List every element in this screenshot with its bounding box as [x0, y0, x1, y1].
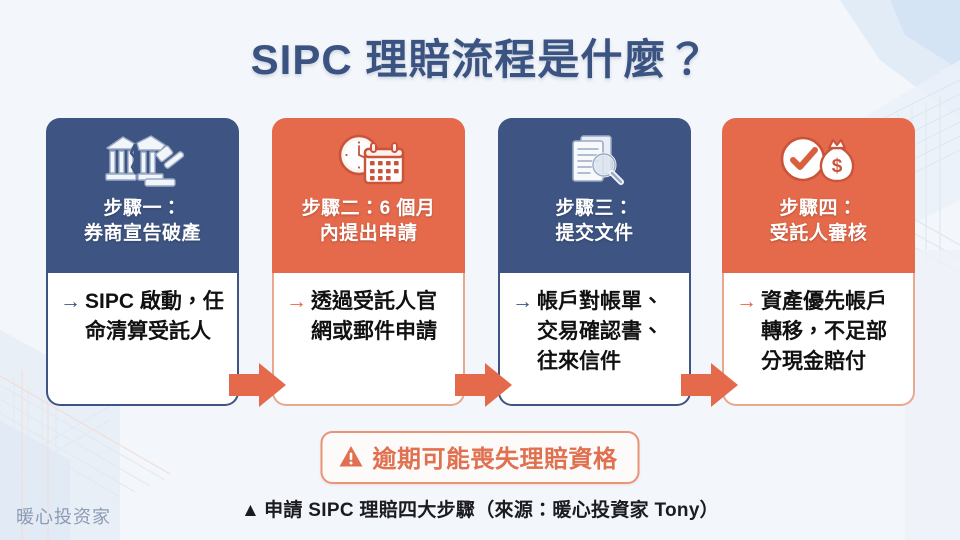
step-card-3-title-line2: 提交文件	[555, 221, 633, 246]
steps-container: 步驟一： 券商宣告破產 → SIPC 啟動，任命清算受託人	[0, 118, 960, 408]
step-card-2-title-line2: 內提出申請	[302, 221, 436, 246]
arrow-step2-to-step3	[455, 361, 513, 409]
step-card-4-header: $ 步驟四： 受託人審核	[722, 118, 915, 273]
caption-text: 申請 SIPC 理賠四大步驟（來源：暖心投資家 Tony）	[264, 500, 719, 521]
step-card-2-title: 步驟二：6 個月 內提出申請	[302, 196, 436, 247]
step-card-3[interactable]: 步驟三： 提交文件 → 帳戶對帳單、交易確認書、往來信件	[498, 118, 691, 406]
step-card-1-body: → SIPC 啟動，任命清算受託人	[46, 273, 239, 406]
step-card-1-title-line2: 券商宣告破產	[84, 221, 201, 246]
step-card-4-description: 資產優先帳戶轉移，不足部分現金賠付	[761, 287, 903, 376]
step-card-2-body: → 透過受託人官網或郵件申請	[272, 273, 465, 406]
step-card-4[interactable]: $ 步驟四： 受託人審核 → 資產優先帳戶轉移，不足部分現金賠付	[722, 118, 915, 406]
caption: ▲申請 SIPC 理賠四大步驟（來源：暖心投資家 Tony）	[0, 495, 960, 522]
clock-calendar-icon	[327, 130, 411, 192]
step-card-1[interactable]: 步驟一： 券商宣告破產 → SIPC 啟動，任命清算受託人	[46, 118, 239, 406]
step-card-4-body: → 資產優先帳戶轉移，不足部分現金賠付	[722, 273, 915, 406]
svg-text:$: $	[831, 156, 842, 177]
document-magnifier-icon	[553, 130, 637, 192]
step-card-2-description: 透過受託人官網或郵件申請	[311, 287, 453, 347]
watermark: 暖心投资家	[16, 503, 111, 529]
arrow-step1-to-step2	[229, 361, 287, 409]
warning-text: 逾期可能喪失理賠資格	[373, 439, 618, 474]
step-card-4-title-line2: 受託人審核	[770, 221, 868, 246]
step-card-1-title-line1: 步驟一：	[84, 196, 201, 221]
broken-courthouse-gavel-icon	[101, 130, 185, 192]
step-card-2[interactable]: 步驟二：6 個月 內提出申請 → 透過受託人官網或郵件申請	[272, 118, 465, 406]
step-card-4-bullet-arrow: →	[736, 287, 757, 317]
step-card-3-title-line1: 步驟三：	[555, 196, 633, 221]
step-card-3-header: 步驟三： 提交文件	[498, 118, 691, 273]
step-card-4-title: 步驟四： 受託人審核	[770, 196, 868, 247]
warning-banner: 逾期可能喪失理賠資格	[321, 431, 640, 484]
step-card-1-bullet-arrow: →	[60, 287, 81, 317]
step-card-3-title: 步驟三： 提交文件	[555, 196, 633, 247]
arrow-step3-to-step4	[681, 361, 739, 409]
step-card-3-bullet-arrow: →	[512, 287, 533, 317]
step-card-2-title-line1: 步驟二：6 個月	[302, 196, 436, 221]
step-card-1-description: SIPC 啟動，任命清算受託人	[85, 287, 227, 347]
step-card-3-description: 帳戶對帳單、交易確認書、往來信件	[537, 287, 679, 376]
caption-marker-icon: ▲	[241, 500, 260, 521]
step-card-1-header: 步驟一： 券商宣告破產	[46, 118, 239, 273]
step-card-1-title: 步驟一： 券商宣告破產	[84, 196, 201, 247]
step-card-2-header: 步驟二：6 個月 內提出申請	[272, 118, 465, 273]
step-card-3-body: → 帳戶對帳單、交易確認書、往來信件	[498, 273, 691, 406]
page-title: SIPC 理賠流程是什麼？	[0, 26, 960, 87]
step-card-4-title-line1: 步驟四：	[770, 196, 868, 221]
step-card-2-bullet-arrow: →	[286, 287, 307, 317]
check-moneybag-icon: $	[775, 130, 863, 192]
warning-triangle-icon	[339, 445, 364, 468]
